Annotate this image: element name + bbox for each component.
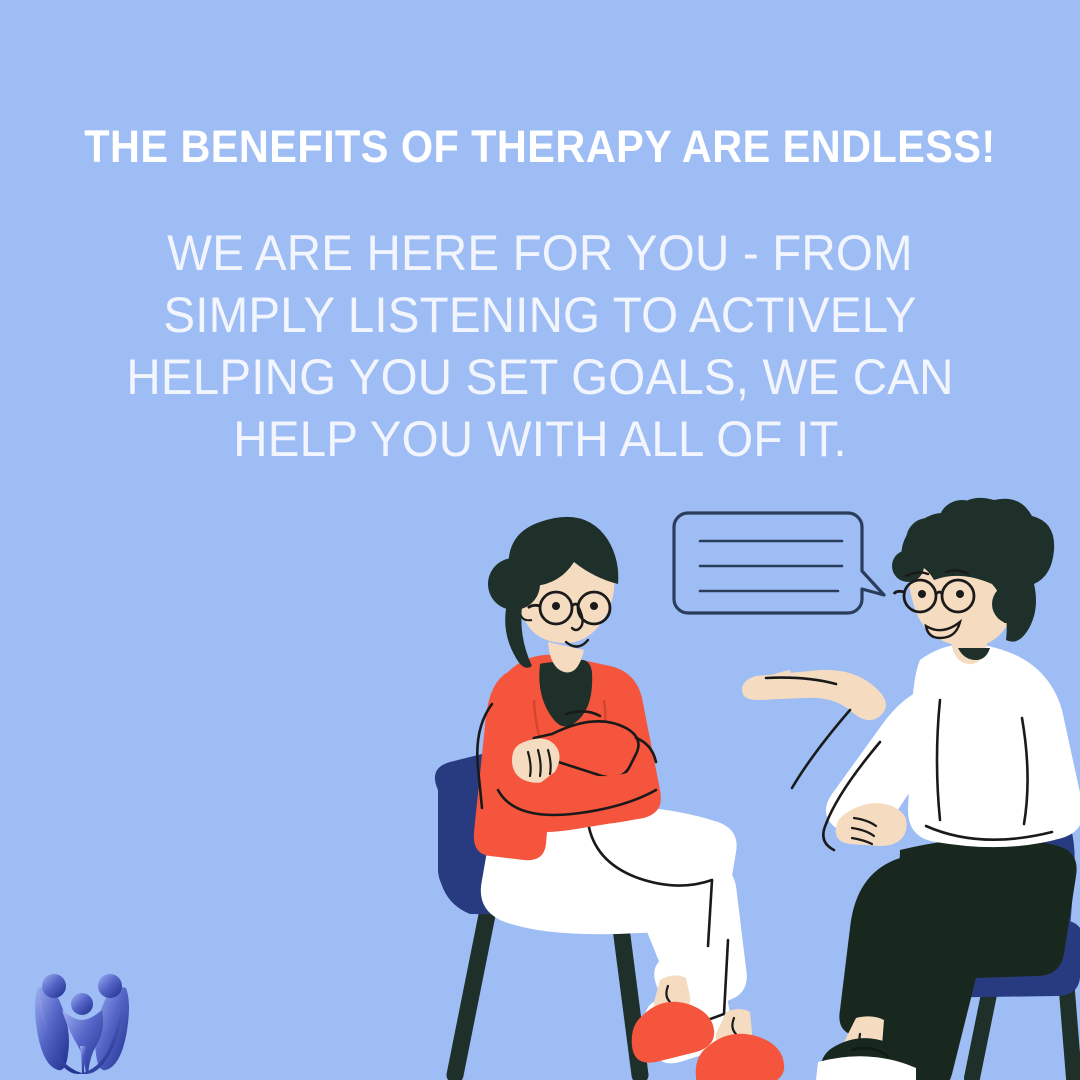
logo-head-left bbox=[42, 974, 66, 998]
therapist-shoe-back bbox=[632, 1002, 714, 1063]
therapist-figure bbox=[474, 517, 784, 1080]
page-subtitle: WE ARE HERE FOR YOU - FROM SIMPLY LISTEN… bbox=[84, 222, 996, 470]
therapist-shoe-front bbox=[696, 1034, 784, 1080]
logo-head-center bbox=[71, 993, 93, 1015]
speech-bubble-lines bbox=[700, 541, 842, 591]
page-title: THE BENEFITS OF THERAPY ARE ENDLESS! bbox=[43, 124, 1037, 169]
client-glasses bbox=[894, 580, 974, 612]
therapist-glasses bbox=[528, 592, 610, 624]
logo-head-right bbox=[98, 974, 122, 998]
speech-bubble bbox=[674, 513, 884, 613]
client-sneaker bbox=[820, 1038, 916, 1080]
client-eye-left bbox=[918, 590, 926, 598]
poster-canvas: THE BENEFITS OF THERAPY ARE ENDLESS! WE … bbox=[0, 0, 1080, 1080]
client-chair bbox=[892, 793, 1080, 1078]
therapist-eye-right bbox=[590, 602, 598, 610]
three-people-psi-logo[interactable] bbox=[24, 958, 140, 1074]
client-figure bbox=[742, 498, 1080, 1080]
client-eye-right bbox=[956, 590, 964, 598]
therapist-chair bbox=[435, 748, 662, 1075]
client-resting-hand bbox=[836, 803, 907, 846]
client-open-palm bbox=[742, 670, 886, 720]
therapist-eye-left bbox=[552, 602, 560, 610]
